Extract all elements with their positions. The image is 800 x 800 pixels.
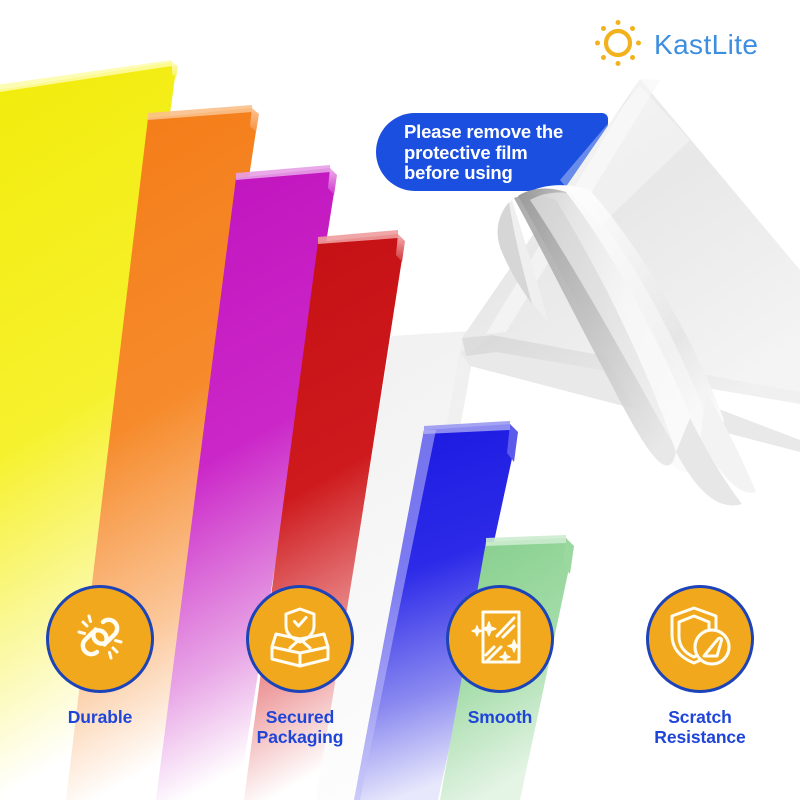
- feature-label-line-1: Secured: [266, 707, 334, 727]
- feature-label: Smooth: [468, 707, 533, 727]
- feature-icon-circle: [46, 585, 154, 693]
- product-image-canvas: Please remove the protective film before…: [0, 0, 800, 800]
- notice-line-3: before using: [404, 163, 604, 184]
- feature-label-line-1: Scratch: [668, 707, 732, 727]
- feature-label-line-2: Resistance: [654, 727, 745, 747]
- shield-box-icon: [266, 603, 334, 676]
- notice-line-1: Please remove the: [404, 122, 604, 143]
- feature-label: Scratch Resistance: [654, 707, 745, 747]
- sparkle-panel-icon: [467, 604, 533, 675]
- feature-label-line-2: Packaging: [257, 727, 344, 747]
- feature-icon-circle: [646, 585, 754, 693]
- sun-icon: [592, 17, 644, 74]
- chain-link-icon: [67, 604, 133, 675]
- feature-label: Secured Packaging: [257, 707, 344, 747]
- feature-icon-circle: [246, 585, 354, 693]
- feature-item-secured-packaging[interactable]: Secured Packaging: [200, 585, 400, 785]
- feature-item-smooth[interactable]: Smooth: [400, 585, 600, 785]
- feature-label: Durable: [68, 707, 132, 727]
- shield-knife-icon: [666, 603, 734, 676]
- feature-item-scratch-resistance[interactable]: Scratch Resistance: [600, 585, 800, 785]
- notice-line-2: protective film: [404, 143, 604, 164]
- protective-film-notice-badge: Please remove the protective film before…: [376, 113, 608, 191]
- feature-icon-circle: [446, 585, 554, 693]
- notice-text: Please remove the protective film before…: [404, 122, 604, 184]
- feature-item-durable[interactable]: Durable: [0, 585, 200, 785]
- brand-logo: KastLite: [592, 18, 758, 72]
- brand-name: KastLite: [654, 29, 758, 61]
- feature-list: Durable Secured Packaging: [0, 585, 800, 785]
